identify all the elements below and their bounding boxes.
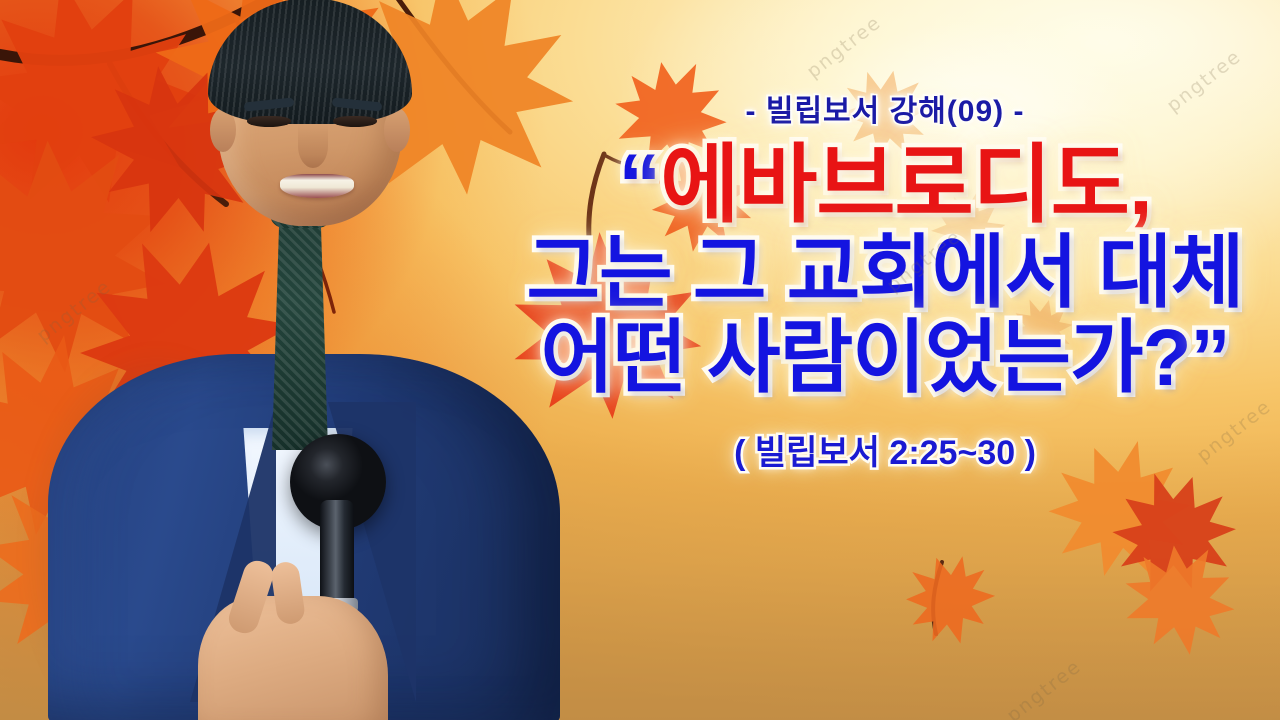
quote-close-mark: ” xyxy=(1190,313,1229,402)
speaker-portrait xyxy=(22,4,582,720)
headline-line-3: 어떤 사람이었는가?” xyxy=(505,317,1265,399)
thumbnail-canvas: - 빌립보서 강해(09) - “에바브로디도, 그는 그 교회에서 대체 어떤… xyxy=(0,0,1280,720)
eye-right xyxy=(333,116,377,127)
mouth-smiling xyxy=(280,174,354,198)
title-overlay: - 빌립보서 강해(09) - “에바브로디도, 그는 그 교회에서 대체 어떤… xyxy=(505,86,1265,474)
scripture-reference: ( 빌립보서 2:25~30 ) xyxy=(505,425,1265,474)
headline-block: “에바브로디도, 그는 그 교회에서 대체 어떤 사람이었는가?” xyxy=(505,142,1265,399)
quote-open-mark: “ xyxy=(618,137,660,233)
nose xyxy=(298,124,328,168)
necktie xyxy=(272,200,328,450)
headline-line-2: 그는 그 교회에서 대체 xyxy=(505,232,1265,314)
series-label: - 빌립보서 강해(09) - xyxy=(505,86,1265,130)
headline-line-3-text: 어떤 사람이었는가? xyxy=(541,313,1191,402)
headline-line-1: “에바브로디도, xyxy=(505,142,1265,230)
eye-left xyxy=(247,116,291,127)
headline-line-1-text: 에바브로디도, xyxy=(660,137,1152,233)
